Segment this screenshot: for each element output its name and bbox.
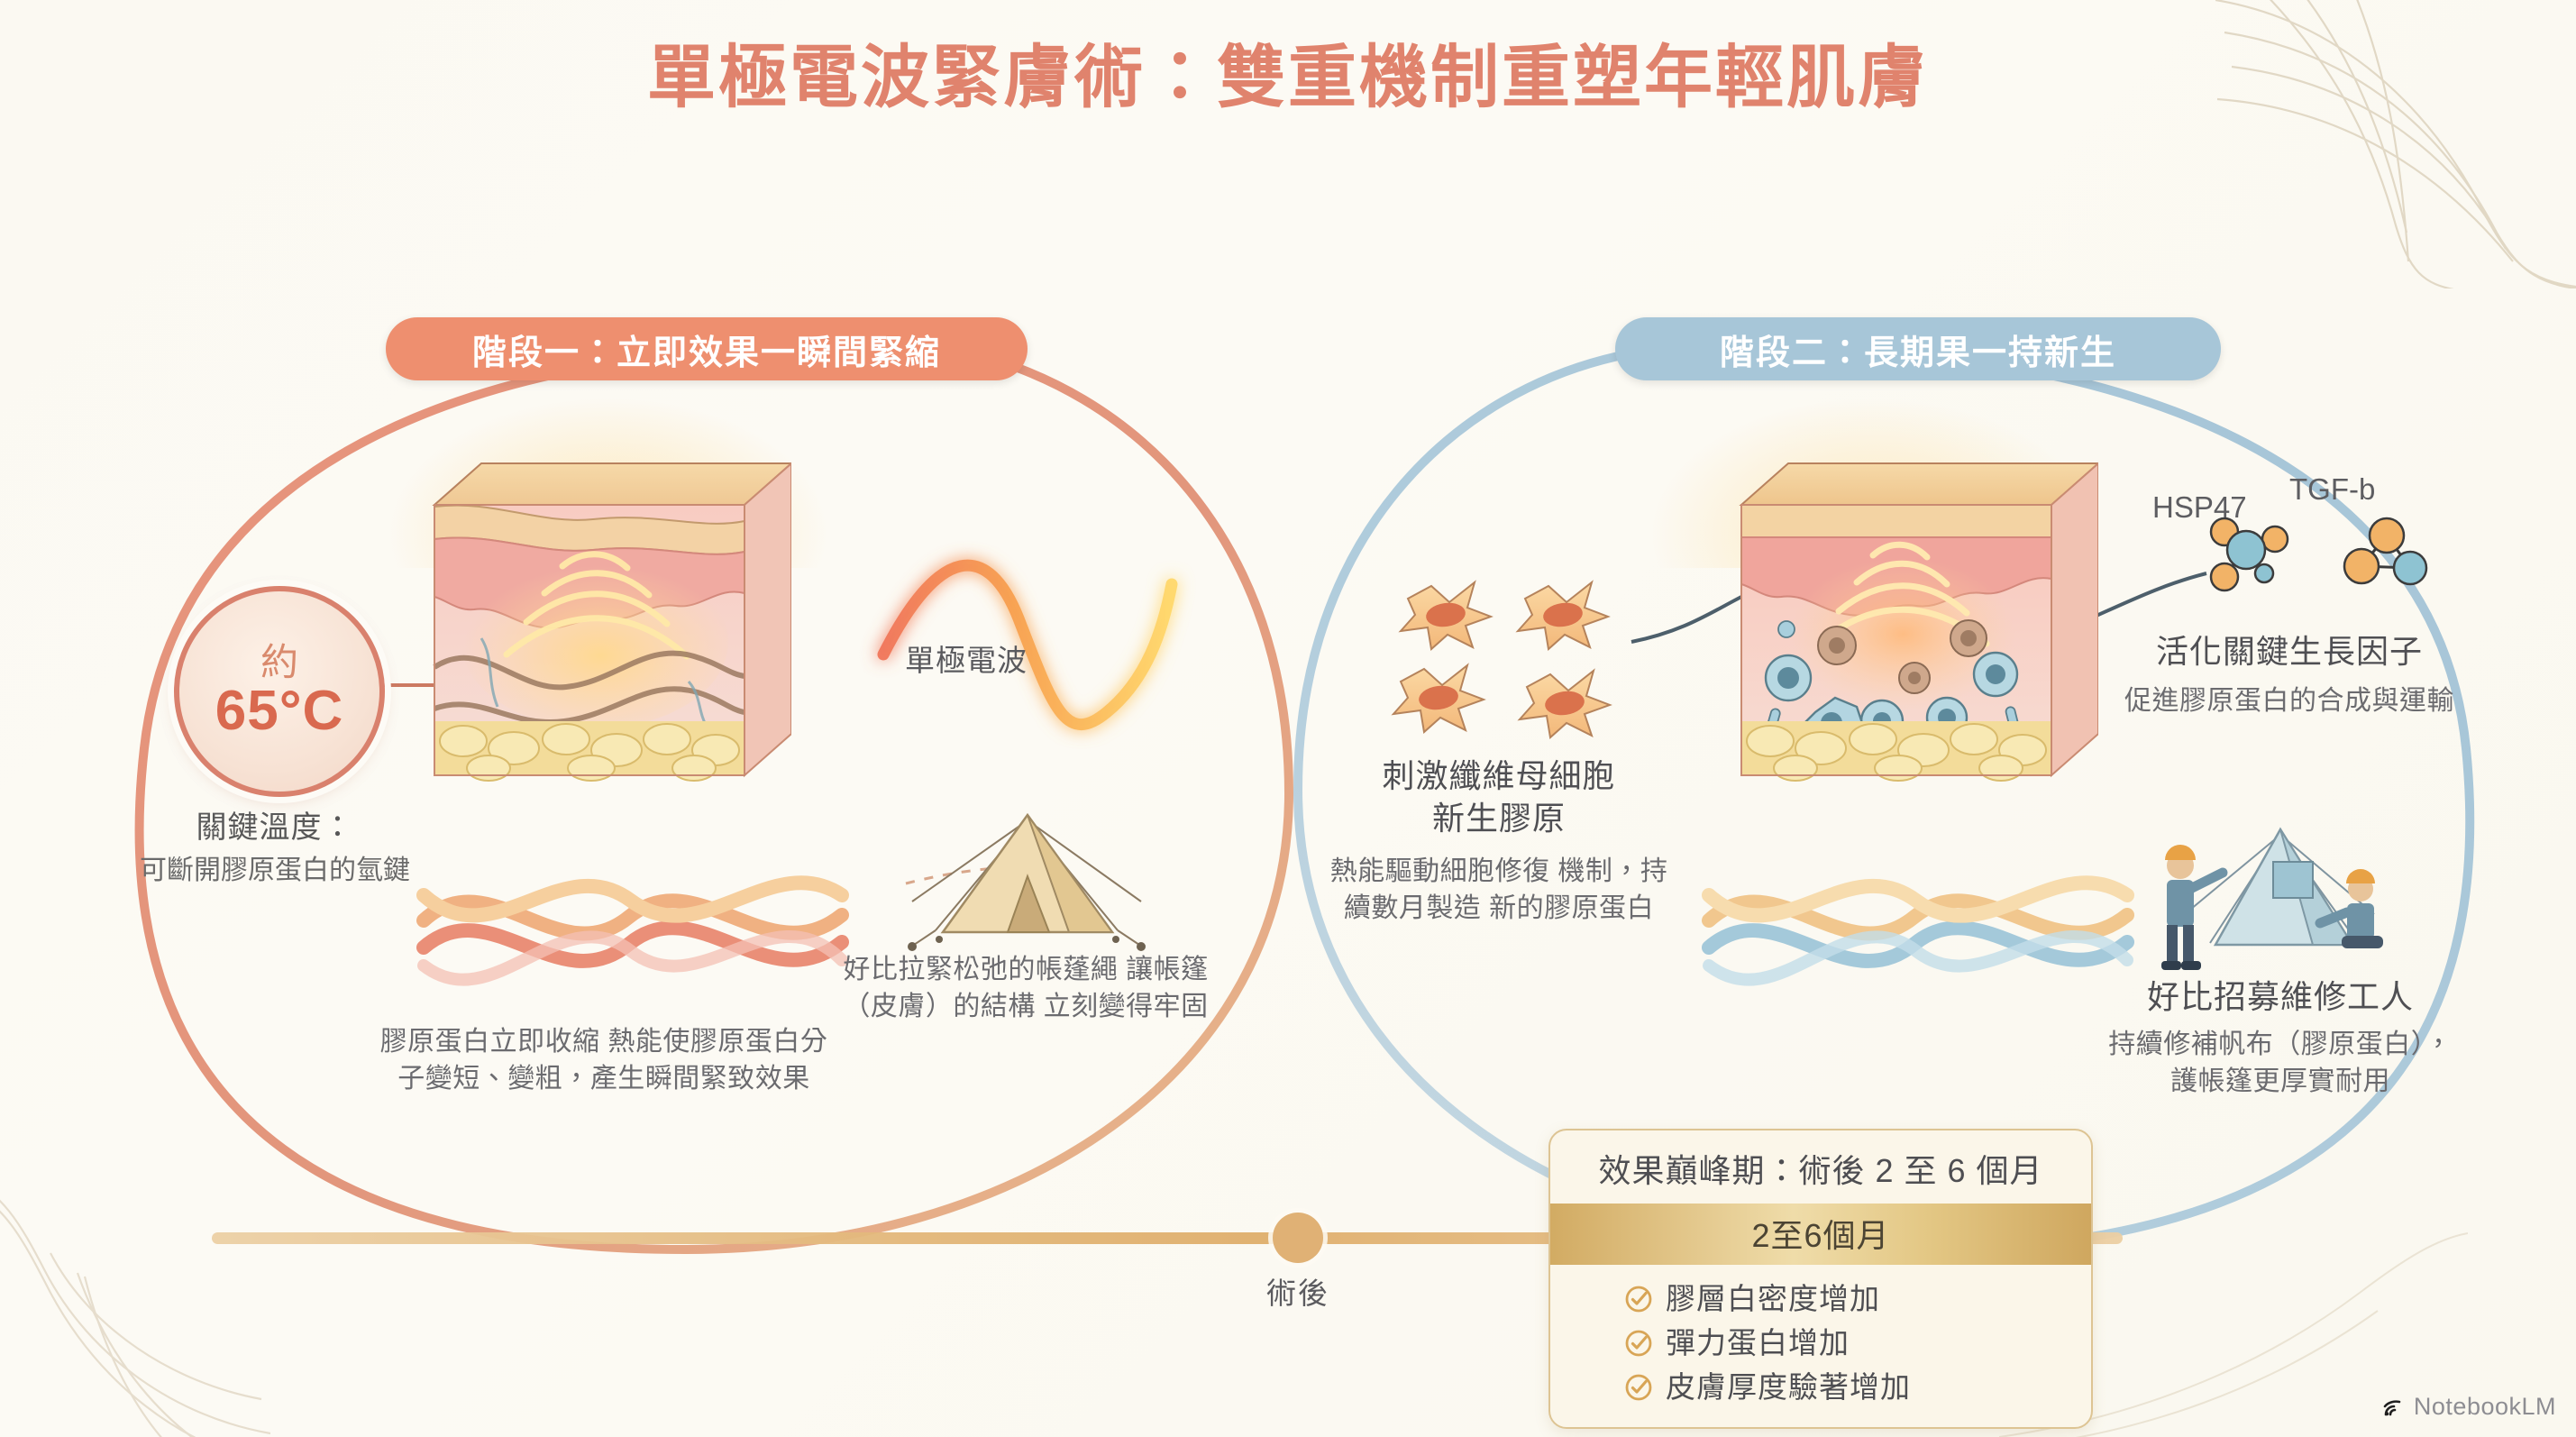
notebooklm-watermark: NotebookLM [2380, 1393, 2556, 1421]
tent-analogy-text: 好比拉緊松弛的帳蓬繩 讓帳篷（皮膚）的結構 立刻變得牢固 [827, 951, 1224, 1026]
list-item-label: 彈力蛋白增加 [1666, 1322, 1850, 1366]
check-circle-icon [1624, 1285, 1653, 1313]
repair-analogy-body: 持續修補帆布（膠原蛋白），護帳篷更厚實耐用 [2096, 1026, 2465, 1101]
tent-illustration-taut [901, 793, 1154, 965]
notebooklm-label: NotebookLM [2414, 1393, 2556, 1421]
immediate-collagen-text: 膠原蛋白立即收縮 熱能使膠原蛋白分子變短、變粗，產生瞬間緊致效果 [379, 1023, 829, 1098]
infographic-canvas: 單極電波緊膚術：雙重機制重塑年輕肌膚 [0, 0, 2576, 1437]
list-item-label: 膠層白密度增加 [1666, 1277, 1880, 1322]
growth-factor-body: 促進膠原蛋白的合成與運輸 [2109, 682, 2470, 719]
skin-cross-section-regeneration [1738, 451, 2098, 793]
key-temperature-body: 可斷開膠原蛋白的氫鍵 [108, 853, 442, 889]
stage-one-badge[interactable]: 階段一：立即效果一瞬間緊縮 [386, 317, 1028, 380]
temperature-approx-label: 約 [260, 644, 298, 682]
peak-effect-list: 膠層白密度增加 彈力蛋白增加 皮膚厚度驗著增加 [1550, 1265, 2091, 1427]
page-title: 單極電波緊膚術：雙重機制重塑年輕肌膚 [0, 38, 2576, 119]
monopolar-rf-label-block: 單極電波 [867, 642, 1065, 681]
timeline-node-label: 術後 [1208, 1269, 1388, 1313]
monopolar-rf-label: 單極電波 [867, 642, 1065, 681]
check-circle-icon [1624, 1373, 1653, 1402]
immediate-collagen-caption: 膠原蛋白立即收縮 熱能使膠原蛋白分子變短、變粗，產生瞬間緊致效果 [379, 1023, 829, 1098]
collagen-fibres-renewed [1693, 843, 2143, 996]
growth-factor-molecules [2181, 512, 2452, 620]
list-item: 皮膚厚度驗著增加 [1624, 1366, 2091, 1410]
peak-effect-title: 效果巔峰期：術後 2 至 6 個月 [1550, 1130, 2091, 1204]
collagen-fibres-contracted [407, 843, 858, 996]
fibroblast-body: 熱能驅動細胞修復 機制，持續數月製造 新的膠原蛋白 [1323, 853, 1675, 928]
tent-analogy-caption: 好比拉緊松弛的帳蓬繩 讓帳篷（皮膚）的結構 立刻變得牢固 [827, 951, 1224, 1026]
fibroblast-caption: 刺激纖維母細胞 新生膠原 熱能驅動細胞修復 機制，持續數月製造 新的膠原蛋白 [1323, 755, 1675, 927]
stage-two-badge[interactable]: 階段二：長期果一持新生 [1615, 317, 2221, 380]
timeline-node [1273, 1213, 1323, 1263]
molecule-label-tgfb: TGF-b [2289, 472, 2375, 507]
fibroblast-heading: 刺激纖維母細胞 新生膠原 [1323, 755, 1675, 840]
peak-effect-card: 效果巔峰期：術後 2 至 6 個月 2至6個月 膠層白密度增加 彈力蛋白增加 [1548, 1129, 2093, 1429]
molecule-label-hsp47: HSP47 [2152, 490, 2247, 525]
list-item: 膠層白密度增加 [1624, 1277, 2091, 1322]
growth-factor-caption: 活化關鍵生長因子 促進膠原蛋白的合成與運輸 [2109, 631, 2470, 719]
fibroblast-cells [1356, 561, 1662, 750]
key-temperature-dial: 約 65°C [174, 586, 385, 797]
skin-cross-section-immediate [431, 451, 791, 793]
repair-analogy-heading: 好比招募維修工人 [2096, 976, 2465, 1019]
peak-effect-ribbon: 2至6個月 [1550, 1204, 2091, 1265]
tent-repair-workers [2127, 802, 2416, 983]
notebooklm-icon [2380, 1395, 2405, 1420]
check-circle-icon [1624, 1329, 1653, 1358]
growth-factor-heading: 活化關鍵生長因子 [2109, 631, 2470, 673]
list-item: 彈力蛋白增加 [1624, 1322, 2091, 1366]
list-item-label: 皮膚厚度驗著增加 [1666, 1366, 1911, 1410]
key-temperature-heading: 關鍵溫度： [108, 802, 442, 847]
decorative-lines-bottom-left [0, 1167, 270, 1437]
temperature-value: 65°C [215, 683, 344, 739]
key-temperature-caption: 關鍵溫度： 可斷開膠原蛋白的氫鍵 [108, 802, 442, 889]
repair-analogy-caption: 好比招募維修工人 持續修補帆布（膠原蛋白），護帳篷更厚實耐用 [2096, 976, 2465, 1101]
